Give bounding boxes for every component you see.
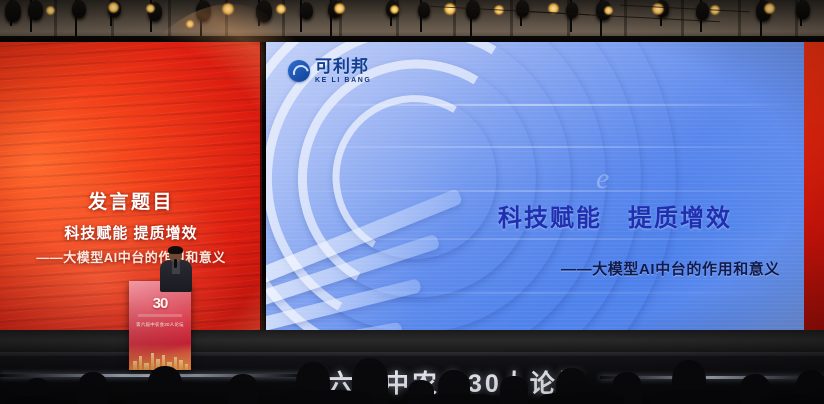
audience-shoulders — [420, 394, 500, 404]
left-screen-heading: 发言题目 — [0, 187, 262, 214]
stage-light-fixture — [466, 0, 480, 19]
audience-shoulders — [276, 390, 372, 404]
stage-light-fixture — [5, 0, 21, 22]
stage-light-fixture — [516, 0, 529, 17]
slide-title: 科技赋能 提质增效 — [498, 198, 732, 233]
stage-light-fixture — [28, 0, 43, 20]
light-bulb-glow — [604, 6, 613, 15]
stage-light-fixture — [418, 2, 430, 18]
left-screen-caption: ——大模型AI中台的作用和意义 — [0, 247, 262, 266]
speaker-person — [160, 247, 192, 289]
light-bulb-glow — [764, 3, 775, 14]
left-screen-subtitle: 科技赋能 提质增效 — [0, 222, 262, 243]
swirl-circle-icon — [288, 60, 310, 82]
audience-shoulders — [126, 392, 202, 404]
logo-name-en: KE LI BANG — [315, 77, 371, 84]
light-bulb-glow — [276, 4, 286, 14]
right-red-sliver — [804, 42, 824, 364]
stage-light-fixture — [796, 0, 810, 19]
podium-divider — [138, 314, 182, 317]
audience-shoulders — [650, 390, 742, 404]
light-bulb-glow — [652, 3, 664, 15]
audience-head — [228, 374, 258, 404]
stage-light-fixture — [72, 0, 86, 18]
light-bulb-glow — [444, 3, 456, 15]
podium-event-name: 第六届中农会30人论坛 — [129, 322, 191, 328]
light-bulb-glow — [46, 6, 55, 15]
audience-shoulders — [540, 392, 624, 404]
speaker-hair — [168, 246, 183, 254]
led-wall: 发言题目 科技赋能 提质增效 ——大模型AI中台的作用和意义 — [0, 42, 824, 364]
anniversary-logo: 30 — [129, 295, 191, 312]
audience-shoulders — [6, 396, 66, 404]
microphone-icon — [174, 259, 177, 268]
light-bulb-glow — [390, 5, 399, 14]
light-bulb-glow — [108, 2, 119, 13]
slide-watermark: e — [596, 162, 609, 196]
slide-subtitle: ——大模型AI中台的作用和意义 — [561, 258, 780, 279]
light-bulb-glow — [334, 3, 345, 14]
company-logo: 可利邦 KE LI BANG — [288, 58, 371, 84]
light-bulb-glow — [146, 4, 155, 13]
audience-shoulders — [760, 394, 824, 404]
stage-scene: 发言题目 科技赋能 提质增效 ——大模型AI中台的作用和意义 — [0, 0, 824, 404]
audience-head — [78, 372, 108, 404]
audience-head — [500, 376, 528, 404]
stage-light-fixture — [566, 2, 578, 18]
logo-name-cn: 可利邦 — [315, 58, 371, 75]
stage-light-fixture — [696, 2, 709, 20]
podium: 30 第六届中农会30人论坛 — [129, 281, 191, 370]
presentation-slide: e 可利邦 KE LI BANG 科技赋能 提质增效 ——大模型AI中台的作用和… — [266, 42, 804, 364]
stage-light-fixture — [300, 2, 313, 19]
